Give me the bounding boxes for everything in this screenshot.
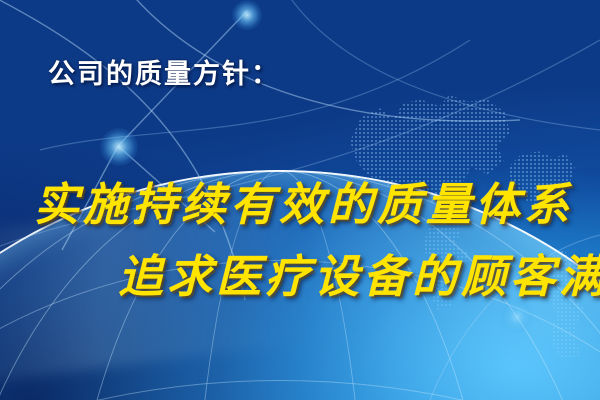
network-node-icon: [100, 128, 138, 166]
network-node-icon: [500, 300, 534, 334]
page-title: 公司的质量方针：: [48, 52, 280, 91]
quality-policy-banner: 公司的质量方针： 实施持续有效的质量体系 追求医疗设备的顾客满意: [0, 0, 600, 400]
network-node-icon: [232, 0, 262, 30]
policy-line-2: 追求医疗设备的顾客满意: [118, 240, 600, 305]
policy-line-1: 实施持续有效的质量体系: [34, 168, 573, 233]
